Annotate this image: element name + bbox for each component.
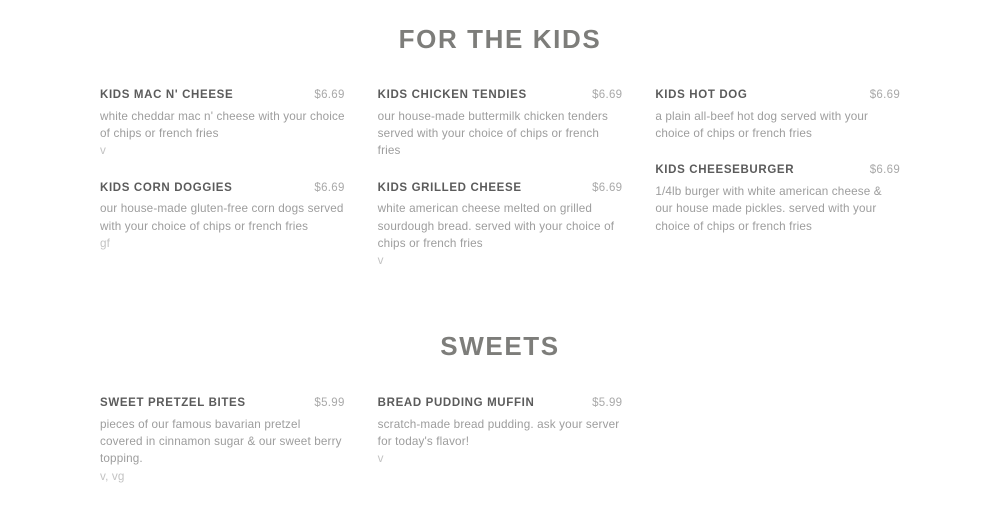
menu-columns-sweets: SWEET PRETZEL BITES $5.99 pieces of our … [0,397,1000,485]
menu-item-header: BREAD PUDDING MUFFIN $5.99 [378,397,623,411]
menu-item-dietary-tags: v [378,450,623,467]
menu-item-price: $6.69 [860,89,900,101]
menu-item[interactable]: SWEET PRETZEL BITES $5.99 pieces of our … [100,397,345,485]
menu-item[interactable]: KIDS GRILLED CHEESE $6.69 white american… [378,182,623,270]
menu-item-dietary-tags: gf [100,235,345,252]
menu-item-name: KIDS MAC N' CHEESE [100,89,233,103]
menu-section-for-the-kids: FOR THE KIDS KIDS MAC N' CHEESE $6.69 wh… [0,26,1000,270]
menu-item-header: KIDS HOT DOG $6.69 [655,89,900,103]
menu-column-3 [655,397,900,485]
menu-item-description: white cheddar mac n' cheese with your ch… [100,108,345,143]
menu-item[interactable]: KIDS MAC N' CHEESE $6.69 white cheddar m… [100,89,345,160]
menu-item-price: $6.69 [860,164,900,176]
menu-item-name: KIDS GRILLED CHEESE [378,182,522,196]
menu-item-description: scratch-made bread pudding. ask your ser… [378,416,623,451]
menu-column-2: BREAD PUDDING MUFFIN $5.99 scratch-made … [378,397,623,485]
menu-section-sweets: SWEETS SWEET PRETZEL BITES $5.99 pieces … [0,333,1000,485]
menu-item-name: KIDS CHEESEBURGER [655,164,794,178]
menu-item-name: BREAD PUDDING MUFFIN [378,397,535,411]
menu-page: FOR THE KIDS KIDS MAC N' CHEESE $6.69 wh… [0,0,1000,510]
menu-item-name: SWEET PRETZEL BITES [100,397,246,411]
menu-item-header: KIDS CORN DOGGIES $6.69 [100,182,345,196]
menu-columns-for-the-kids: KIDS MAC N' CHEESE $6.69 white cheddar m… [0,89,1000,270]
menu-item-description: our house-made gluten-free corn dogs ser… [100,200,345,235]
menu-item-description: our house-made buttermilk chicken tender… [378,108,623,160]
menu-item-header: KIDS GRILLED CHEESE $6.69 [378,182,623,196]
menu-column-3: KIDS HOT DOG $6.69 a plain all-beef hot … [655,89,900,270]
menu-item[interactable]: BREAD PUDDING MUFFIN $5.99 scratch-made … [378,397,623,468]
menu-item-header: KIDS CHEESEBURGER $6.69 [655,164,900,178]
menu-item-price: $6.69 [304,182,344,194]
menu-item-name: KIDS CHICKEN TENDIES [378,89,527,103]
menu-item-header: SWEET PRETZEL BITES $5.99 [100,397,345,411]
menu-item-dietary-tags: v [378,252,623,269]
menu-item-description: white american cheese melted on grilled … [378,200,623,252]
section-heading-for-the-kids: FOR THE KIDS [0,26,1000,52]
menu-item-dietary-tags: v, vg [100,468,345,485]
menu-item[interactable]: KIDS HOT DOG $6.69 a plain all-beef hot … [655,89,900,142]
menu-item-price: $6.69 [304,89,344,101]
menu-item-price: $6.69 [582,89,622,101]
menu-column-1: KIDS MAC N' CHEESE $6.69 white cheddar m… [100,89,345,270]
menu-item-price: $5.99 [304,397,344,409]
menu-item[interactable]: KIDS CHEESEBURGER $6.69 1/4lb burger wit… [655,164,900,235]
menu-item-description: pieces of our famous bavarian pretzel co… [100,416,345,468]
menu-item[interactable]: KIDS CORN DOGGIES $6.69 our house-made g… [100,182,345,253]
menu-item-dietary-tags: v [100,142,345,159]
menu-item-price: $5.99 [582,397,622,409]
menu-item-header: KIDS CHICKEN TENDIES $6.69 [378,89,623,103]
menu-item-header: KIDS MAC N' CHEESE $6.69 [100,89,345,103]
menu-item-name: KIDS HOT DOG [655,89,747,103]
menu-item-name: KIDS CORN DOGGIES [100,182,232,196]
menu-item-price: $6.69 [582,182,622,194]
menu-item[interactable]: KIDS CHICKEN TENDIES $6.69 our house-mad… [378,89,623,160]
section-heading-sweets: SWEETS [0,333,1000,359]
menu-column-2: KIDS CHICKEN TENDIES $6.69 our house-mad… [378,89,623,270]
menu-column-1: SWEET PRETZEL BITES $5.99 pieces of our … [100,397,345,485]
menu-item-description: 1/4lb burger with white american cheese … [655,183,900,235]
menu-item-description: a plain all-beef hot dog served with you… [655,108,900,143]
